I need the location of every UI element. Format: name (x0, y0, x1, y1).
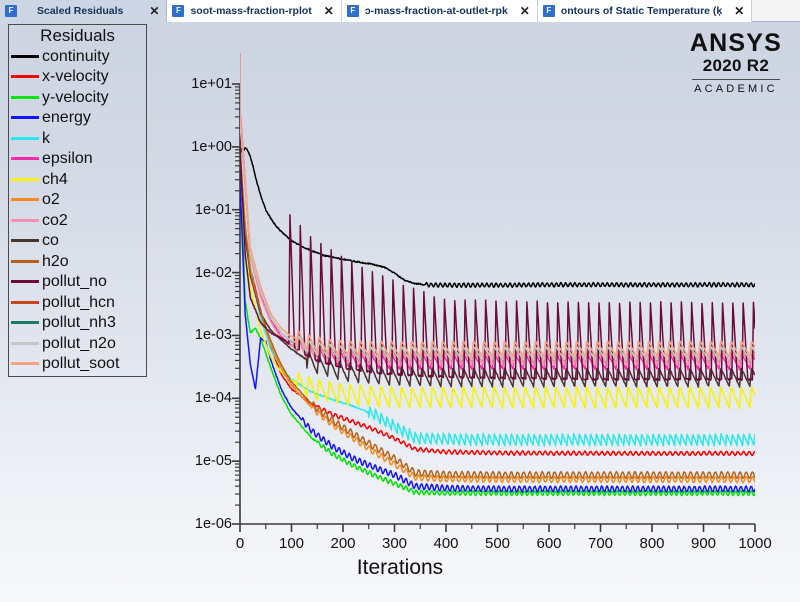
legend-color-swatch (11, 157, 39, 160)
ansys-logo: ANSYS 2020 R2 ACADEMIC (690, 30, 782, 96)
legend-item-label: pollut_nh3 (42, 314, 146, 331)
x-tick-label: 200 (330, 536, 355, 552)
legend-item-x-velocity[interactable]: x-velocity (9, 67, 146, 88)
legend-color-swatch (11, 96, 39, 99)
ansys-wordmark: ANSYS (690, 30, 782, 56)
x-tick-label: 600 (536, 536, 561, 552)
legend-item-label: co2 (42, 212, 146, 229)
legend-item-pollut-n2o[interactable]: pollut_n2o (9, 333, 146, 354)
legend-item-label: o2 (42, 191, 146, 208)
legend-box: Residuals continuityx-velocityy-velocity… (8, 24, 147, 377)
x-tick-label: 900 (691, 536, 716, 552)
tab-bar: F Scaled Residuals ✕ F soot-mass-fractio… (0, 0, 800, 22)
close-icon[interactable]: ✕ (149, 5, 159, 17)
legend-item-label: h2o (42, 253, 146, 270)
close-icon[interactable]: ✕ (734, 5, 744, 17)
fluent-icon: F (347, 5, 359, 17)
legend-color-swatch (11, 116, 39, 119)
fluent-plot-window: F Scaled Residuals ✕ F soot-mass-fractio… (0, 0, 800, 602)
x-axis-title: Iterations (0, 556, 800, 580)
legend-item-energy[interactable]: energy (9, 108, 146, 129)
fluent-icon: F (172, 5, 184, 17)
close-icon[interactable]: ✕ (520, 5, 530, 17)
legend-item-continuity[interactable]: continuity (9, 46, 146, 67)
legend-item-h2o[interactable]: h2o (9, 251, 146, 272)
legend-color-swatch (11, 301, 39, 304)
legend-color-swatch (11, 55, 39, 58)
legend-item-label: x-velocity (42, 68, 146, 85)
legend-color-swatch (11, 178, 39, 181)
legend-item-label: energy (42, 109, 146, 126)
legend-color-swatch (11, 198, 39, 201)
x-tick-label: 400 (433, 536, 458, 552)
plot-canvas[interactable]: 1e+011e+001e-011e-021e-031e-041e-051e-06… (0, 22, 800, 602)
legend-color-swatch (11, 321, 39, 324)
x-tick-label: 0 (236, 536, 244, 552)
ansys-version: 2020 R2 (690, 56, 782, 76)
tab-mass-fraction-at-outlet[interactable]: F ɔ-mass-fraction-at-outlet-rpk ✕ (342, 0, 538, 22)
legend-title: Residuals (9, 26, 146, 46)
legend-item-o2[interactable]: o2 (9, 190, 146, 211)
legend-color-swatch (11, 342, 39, 345)
x-tick-label: 100 (279, 536, 304, 552)
tab-label: soot-mass-fraction-rplot (190, 5, 311, 17)
legend-color-swatch (11, 239, 39, 242)
fluent-icon: F (543, 5, 555, 17)
legend-item-pollut-soot[interactable]: pollut_soot (9, 354, 146, 375)
legend-item-label: co (42, 232, 146, 249)
tab-contours-of-static-temperature[interactable]: F ontours of Static Temperature (ķ ✕ (538, 0, 752, 22)
legend-color-swatch (11, 260, 39, 263)
tab-scaled-residuals[interactable]: F Scaled Residuals ✕ (0, 0, 167, 22)
tab-soot-mass-fraction-rplot[interactable]: F soot-mass-fraction-rplot ✕ (167, 0, 341, 22)
x-tick-label: 500 (485, 536, 510, 552)
legend-item-ch4[interactable]: ch4 (9, 169, 146, 190)
legend-item-label: ch4 (42, 171, 146, 188)
x-tick-label: 700 (588, 536, 613, 552)
legend-item-label: pollut_soot (42, 355, 146, 372)
x-tick-label: 800 (639, 536, 664, 552)
legend-item-label: epsilon (42, 150, 146, 167)
fluent-icon: F (5, 5, 17, 17)
legend-item-label: k (42, 130, 146, 147)
legend-item-co2[interactable]: co2 (9, 210, 146, 231)
x-tick-label: 300 (382, 536, 407, 552)
legend-item-label: pollut_no (42, 273, 146, 290)
legend-color-swatch (11, 280, 39, 283)
ansys-edition: ACADEMIC (690, 83, 782, 96)
legend-item-co[interactable]: co (9, 231, 146, 252)
legend-color-swatch (11, 75, 39, 78)
legend-item-label: y-velocity (42, 89, 146, 106)
legend-entries: continuityx-velocityy-velocityenergykeps… (9, 46, 146, 374)
x-tick-label: 1000 (738, 536, 771, 552)
close-icon[interactable]: ✕ (324, 5, 334, 17)
logo-divider (692, 79, 780, 80)
legend-color-swatch (11, 219, 39, 222)
tab-label: ɔ-mass-fraction-at-outlet-rpk (365, 5, 508, 17)
legend-item-y-velocity[interactable]: y-velocity (9, 87, 146, 108)
legend-item-k[interactable]: k (9, 128, 146, 149)
legend-item-label: continuity (42, 48, 146, 65)
legend-item-pollut-nh3[interactable]: pollut_nh3 (9, 313, 146, 334)
legend-item-epsilon[interactable]: epsilon (9, 149, 146, 170)
legend-item-label: pollut_hcn (42, 294, 146, 311)
tab-label: Scaled Residuals (23, 5, 137, 17)
legend-item-pollut-no[interactable]: pollut_no (9, 272, 146, 293)
legend-color-swatch (11, 137, 39, 140)
legend-item-pollut-hcn[interactable]: pollut_hcn (9, 292, 146, 313)
tab-label: ontours of Static Temperature (ķ (561, 5, 722, 17)
legend-item-label: pollut_n2o (42, 335, 146, 352)
legend-color-swatch (11, 362, 39, 365)
